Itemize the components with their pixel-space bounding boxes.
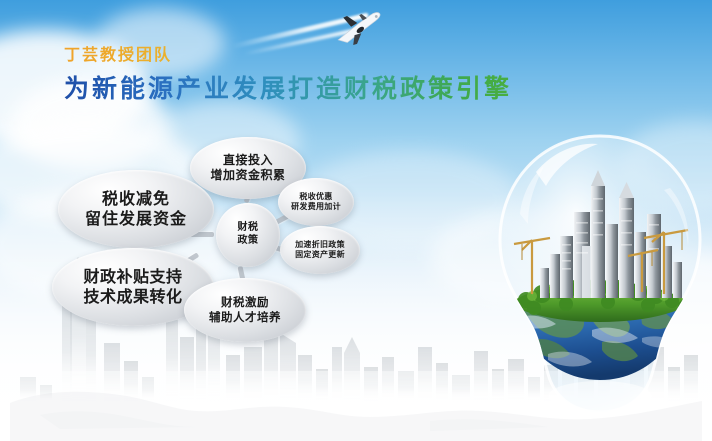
bubble-center-hub[interactable]: 财税 政策 <box>216 203 280 267</box>
bubble-line-2: 留住发展资金 <box>85 209 187 229</box>
bubble-line-2: 辅助人才培养 <box>209 310 281 325</box>
bubble-line-2: 增加资金积累 <box>210 168 285 183</box>
bubble-line-1: 财税激励 <box>209 295 281 310</box>
bubble-line-2: 研发费用加计 <box>291 202 341 212</box>
title-block: 丁芸教授团队 为新能源产业发展打造财税政策引擎 <box>64 44 512 105</box>
bubble-line-2: 固定资产更新 <box>295 250 345 260</box>
hub-line-2: 政策 <box>238 235 259 248</box>
bubble-line-1: 直接投入 <box>210 153 285 168</box>
subtitle-text: 丁芸教授团队 <box>64 44 512 66</box>
bubble-line-1: 税收减免 <box>85 189 187 209</box>
page-title: 为新能源产业发展打造财税政策引擎 <box>64 73 512 106</box>
hub-line-1: 财税 <box>238 222 259 235</box>
bubble-line-2: 技术成果转化 <box>83 287 182 307</box>
bubble-tax-reduction[interactable]: 税收减免 留住发展资金 <box>58 170 214 248</box>
poster-canvas: 丁芸教授团队 为新能源产业发展打造财税政策引擎 <box>0 0 712 441</box>
bubble-tax-preference[interactable]: 税收优惠 研发费用加计 <box>278 178 354 226</box>
bubble-line-1: 加速折旧政策 <box>295 240 345 250</box>
bubble-talent-incentive[interactable]: 财税激励 辅助人才培养 <box>184 278 306 342</box>
bubble-accelerated-depreciation[interactable]: 加速折旧政策 固定资产更新 <box>280 226 360 274</box>
bubble-line-1: 税收优惠 <box>291 192 341 202</box>
lightbulb-illustration <box>492 128 708 428</box>
bubble-line-1: 财政补贴支持 <box>83 267 182 287</box>
